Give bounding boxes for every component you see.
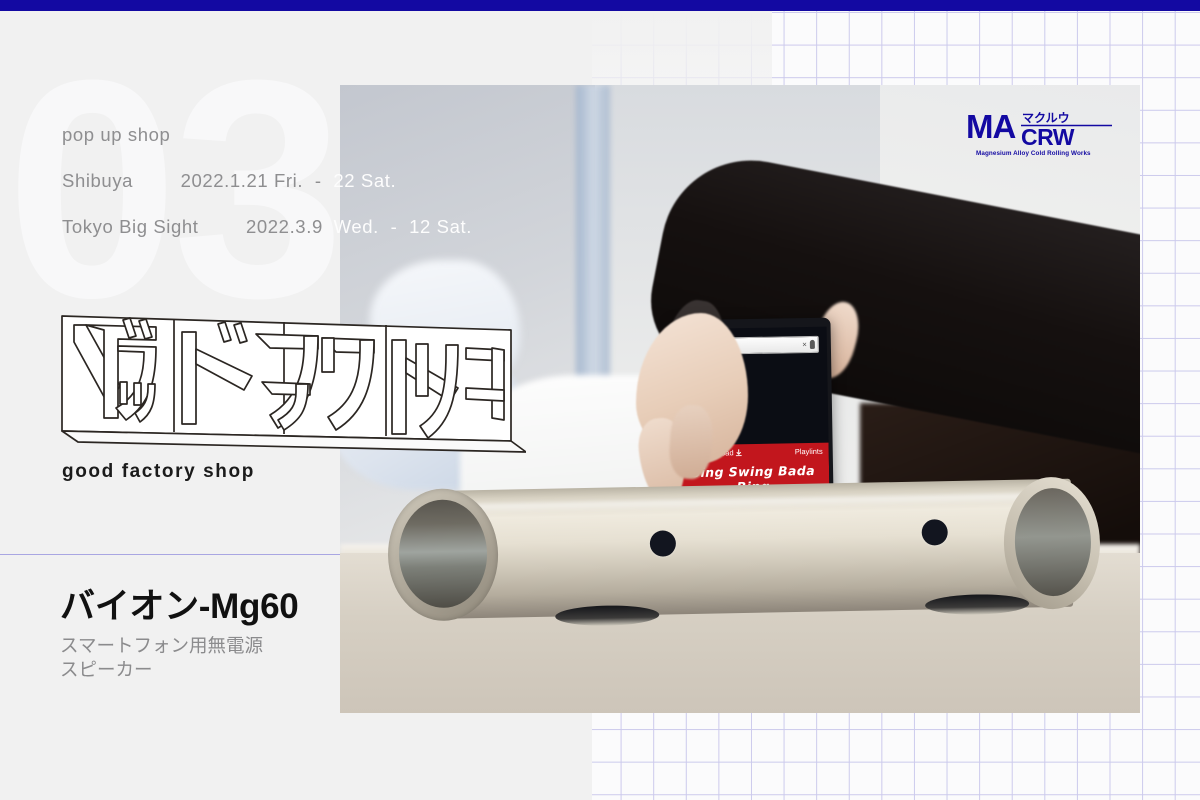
slide-root: 03 g YouTube ×: [0, 0, 1200, 800]
event-date-1: 2022.1.21 Fri.: [181, 170, 304, 192]
macrw-crw-text: CRW: [1021, 124, 1075, 150]
katakana-logo-svg: [56, 300, 526, 465]
product-name: バイオン-Mg60: [60, 588, 380, 627]
event-row-2: Tokyo Big Sight 2022.3.9 Wed. - 12 Sat.: [62, 216, 582, 238]
event-place-2: Tokyo Big Sight: [62, 216, 199, 238]
event-schedule: pop up shop Shibuya 2022.1.21 Fri. - 22 …: [62, 124, 582, 238]
event-end-1: 22 Sat.: [333, 170, 396, 191]
macrw-logo: MA マクルウ CRW Magnesium Alloy Cold Rolling…: [966, 108, 1114, 160]
macrw-logo-svg: MA マクルウ CRW Magnesium Alloy Cold Rolling…: [966, 108, 1114, 160]
tube-bore-left: [398, 499, 488, 609]
logo-caption: good factory shop: [62, 461, 255, 483]
product-subtitle-line-1: スマートフォン用無電源: [60, 634, 380, 658]
event-sep-2: -: [385, 216, 404, 238]
playlists-label[interactable]: Playlints: [795, 447, 823, 456]
product-subtitle: スマートフォン用無電源 スピーカー: [60, 634, 380, 683]
download-icon: [736, 449, 742, 456]
macrw-tagline-text: Magnesium Alloy Cold Rolling Works: [976, 150, 1091, 157]
product-subtitle-line-2: スピーカー: [60, 658, 380, 682]
photo-tube-speaker: [387, 478, 1101, 620]
macrw-ma-text: MA: [966, 108, 1015, 145]
event-row-1: Shibuya 2022.1.21 Fri. - 22 Sat.: [62, 170, 582, 192]
macrw-kana-text: マクルウ: [1022, 111, 1070, 125]
event-sep-1: -: [309, 170, 328, 192]
event-end-2: 12 Sat.: [409, 216, 472, 237]
product-block: バイオン-Mg60 スマートフォン用無電源 スピーカー: [60, 588, 380, 682]
good-factory-katakana-logo: [56, 300, 526, 465]
event-day-2: Wed.: [329, 216, 379, 237]
event-date-2: 2022.3.9: [246, 216, 323, 238]
event-place-1: Shibuya: [62, 170, 133, 192]
clear-icon[interactable]: ×: [802, 341, 807, 349]
top-accent-bar: [0, 0, 1200, 11]
event-kicker: pop up shop: [62, 124, 582, 146]
tube-bore-right: [1014, 487, 1092, 596]
microphone-icon[interactable]: [810, 340, 815, 349]
event-kicker-text: pop up shop: [62, 124, 170, 145]
